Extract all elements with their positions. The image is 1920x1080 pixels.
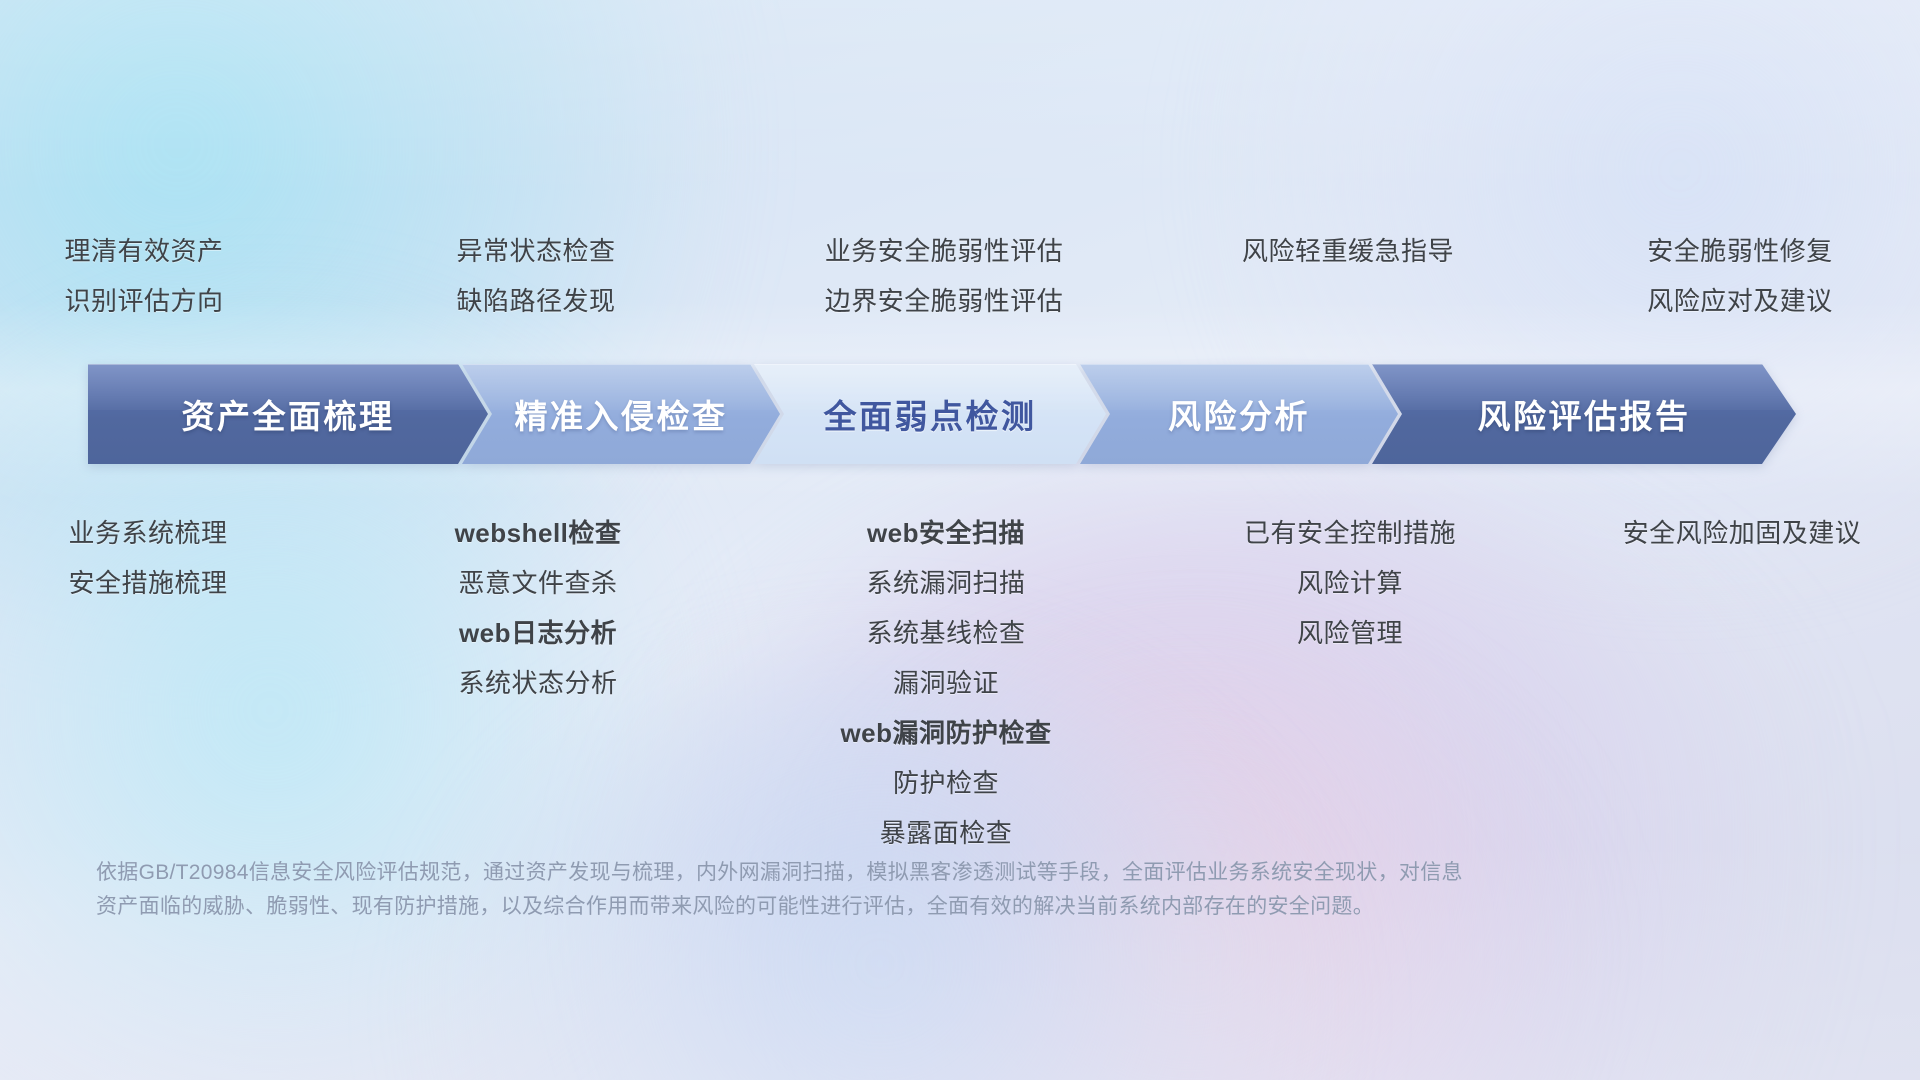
- below-item: 已有安全控制措施: [1244, 508, 1456, 558]
- process-diagram: 理清有效资产 识别评估方向 异常状态检查 缺陷路径发现 业务安全脆弱性评估 边界…: [0, 0, 1920, 1080]
- below-item: webshell检查: [455, 508, 622, 558]
- stage-label-1: 资产全面梳理: [182, 390, 395, 438]
- above-item: 业务安全脆弱性评估: [825, 226, 1064, 276]
- above-item: 风险轻重缓急指导: [1242, 226, 1454, 276]
- above-column-3: 业务安全脆弱性评估 边界安全脆弱性评估: [752, 226, 1136, 326]
- below-item: 系统漏洞扫描: [866, 558, 1025, 608]
- above-column-4: 风险轻重缓急指导: [1156, 226, 1540, 326]
- below-item: 漏洞验证: [893, 658, 999, 708]
- above-item: 缺陷路径发现: [456, 276, 615, 326]
- stage-label-5: 风险评估报告: [1478, 390, 1691, 438]
- stage-label-2: 精准入侵检查: [515, 390, 728, 438]
- below-item: 暴露面检查: [880, 808, 1013, 858]
- footer-line-1: 依据GB/T20984信息安全风险评估规范，通过资产发现与梳理，内外网漏洞扫描，…: [96, 856, 1656, 890]
- below-item: web安全扫描: [867, 508, 1025, 558]
- above-item: 风险应对及建议: [1647, 276, 1833, 326]
- below-column-3: web安全扫描 系统漏洞扫描 系统基线检查 漏洞验证 web漏洞防护检查 防护检…: [754, 508, 1138, 858]
- stage-label-3: 全面弱点检测: [824, 390, 1037, 438]
- below-item: 风险计算: [1297, 558, 1403, 608]
- below-item: 安全措施梳理: [68, 558, 227, 608]
- above-column-1: 理清有效资产 识别评估方向: [0, 226, 336, 326]
- stage-chevron-4[interactable]: 风险分析: [1080, 364, 1398, 464]
- below-item: web日志分析: [459, 608, 617, 658]
- below-column-1: 业务系统梳理 安全措施梳理: [0, 508, 340, 608]
- above-item: 异常状态检查: [456, 226, 615, 276]
- above-banner-text-row: 理清有效资产 识别评估方向 异常状态检查 缺陷路径发现 业务安全脆弱性评估 边界…: [0, 226, 1920, 326]
- below-item: 系统状态分析: [458, 658, 617, 708]
- above-item: 边界安全脆弱性评估: [825, 276, 1064, 326]
- above-item: 安全脆弱性修复: [1647, 226, 1833, 276]
- footer-line-2: 资产面临的威胁、脆弱性、现有防护措施，以及综合作用而带来风险的可能性进行评估，全…: [96, 890, 1656, 924]
- below-item: 安全风险加固及建议: [1623, 508, 1862, 558]
- below-item: 风险管理: [1297, 608, 1403, 658]
- below-item: 恶意文件查杀: [458, 558, 617, 608]
- stage-chevron-5[interactable]: 风险评估报告: [1372, 364, 1796, 464]
- below-item: 系统基线检查: [866, 608, 1025, 658]
- above-column-5: 安全脆弱性修复 风险应对及建议: [1548, 226, 1920, 326]
- below-column-5: 安全风险加固及建议: [1550, 508, 1920, 558]
- above-column-2: 异常状态检查 缺陷路径发现: [344, 226, 728, 326]
- stage-chevron-2[interactable]: 精准入侵检查: [462, 364, 780, 464]
- stage-chevron-1[interactable]: 资产全面梳理: [88, 364, 488, 464]
- footer-description: 依据GB/T20984信息安全风险评估规范，通过资产发现与梳理，内外网漏洞扫描，…: [96, 856, 1656, 924]
- below-item: 防护检查: [893, 758, 999, 808]
- below-banner-text-row: 业务系统梳理 安全措施梳理 webshell检查 恶意文件查杀 web日志分析 …: [0, 508, 1920, 858]
- above-item: 识别评估方向: [64, 276, 223, 326]
- below-item: 业务系统梳理: [68, 508, 227, 558]
- below-item: web漏洞防护检查: [840, 708, 1051, 758]
- above-item: 理清有效资产: [64, 226, 223, 276]
- process-stage-banner: 资产全面梳理 精准入侵检查 全面弱点检测 风险分析 风险评估报告: [88, 364, 1848, 464]
- below-column-4: 已有安全控制措施 风险计算 风险管理: [1158, 508, 1542, 658]
- below-column-2: webshell检查 恶意文件查杀 web日志分析 系统状态分析: [346, 508, 730, 708]
- stage-label-4: 风险分析: [1168, 390, 1310, 438]
- stage-chevron-3[interactable]: 全面弱点检测: [754, 364, 1106, 464]
